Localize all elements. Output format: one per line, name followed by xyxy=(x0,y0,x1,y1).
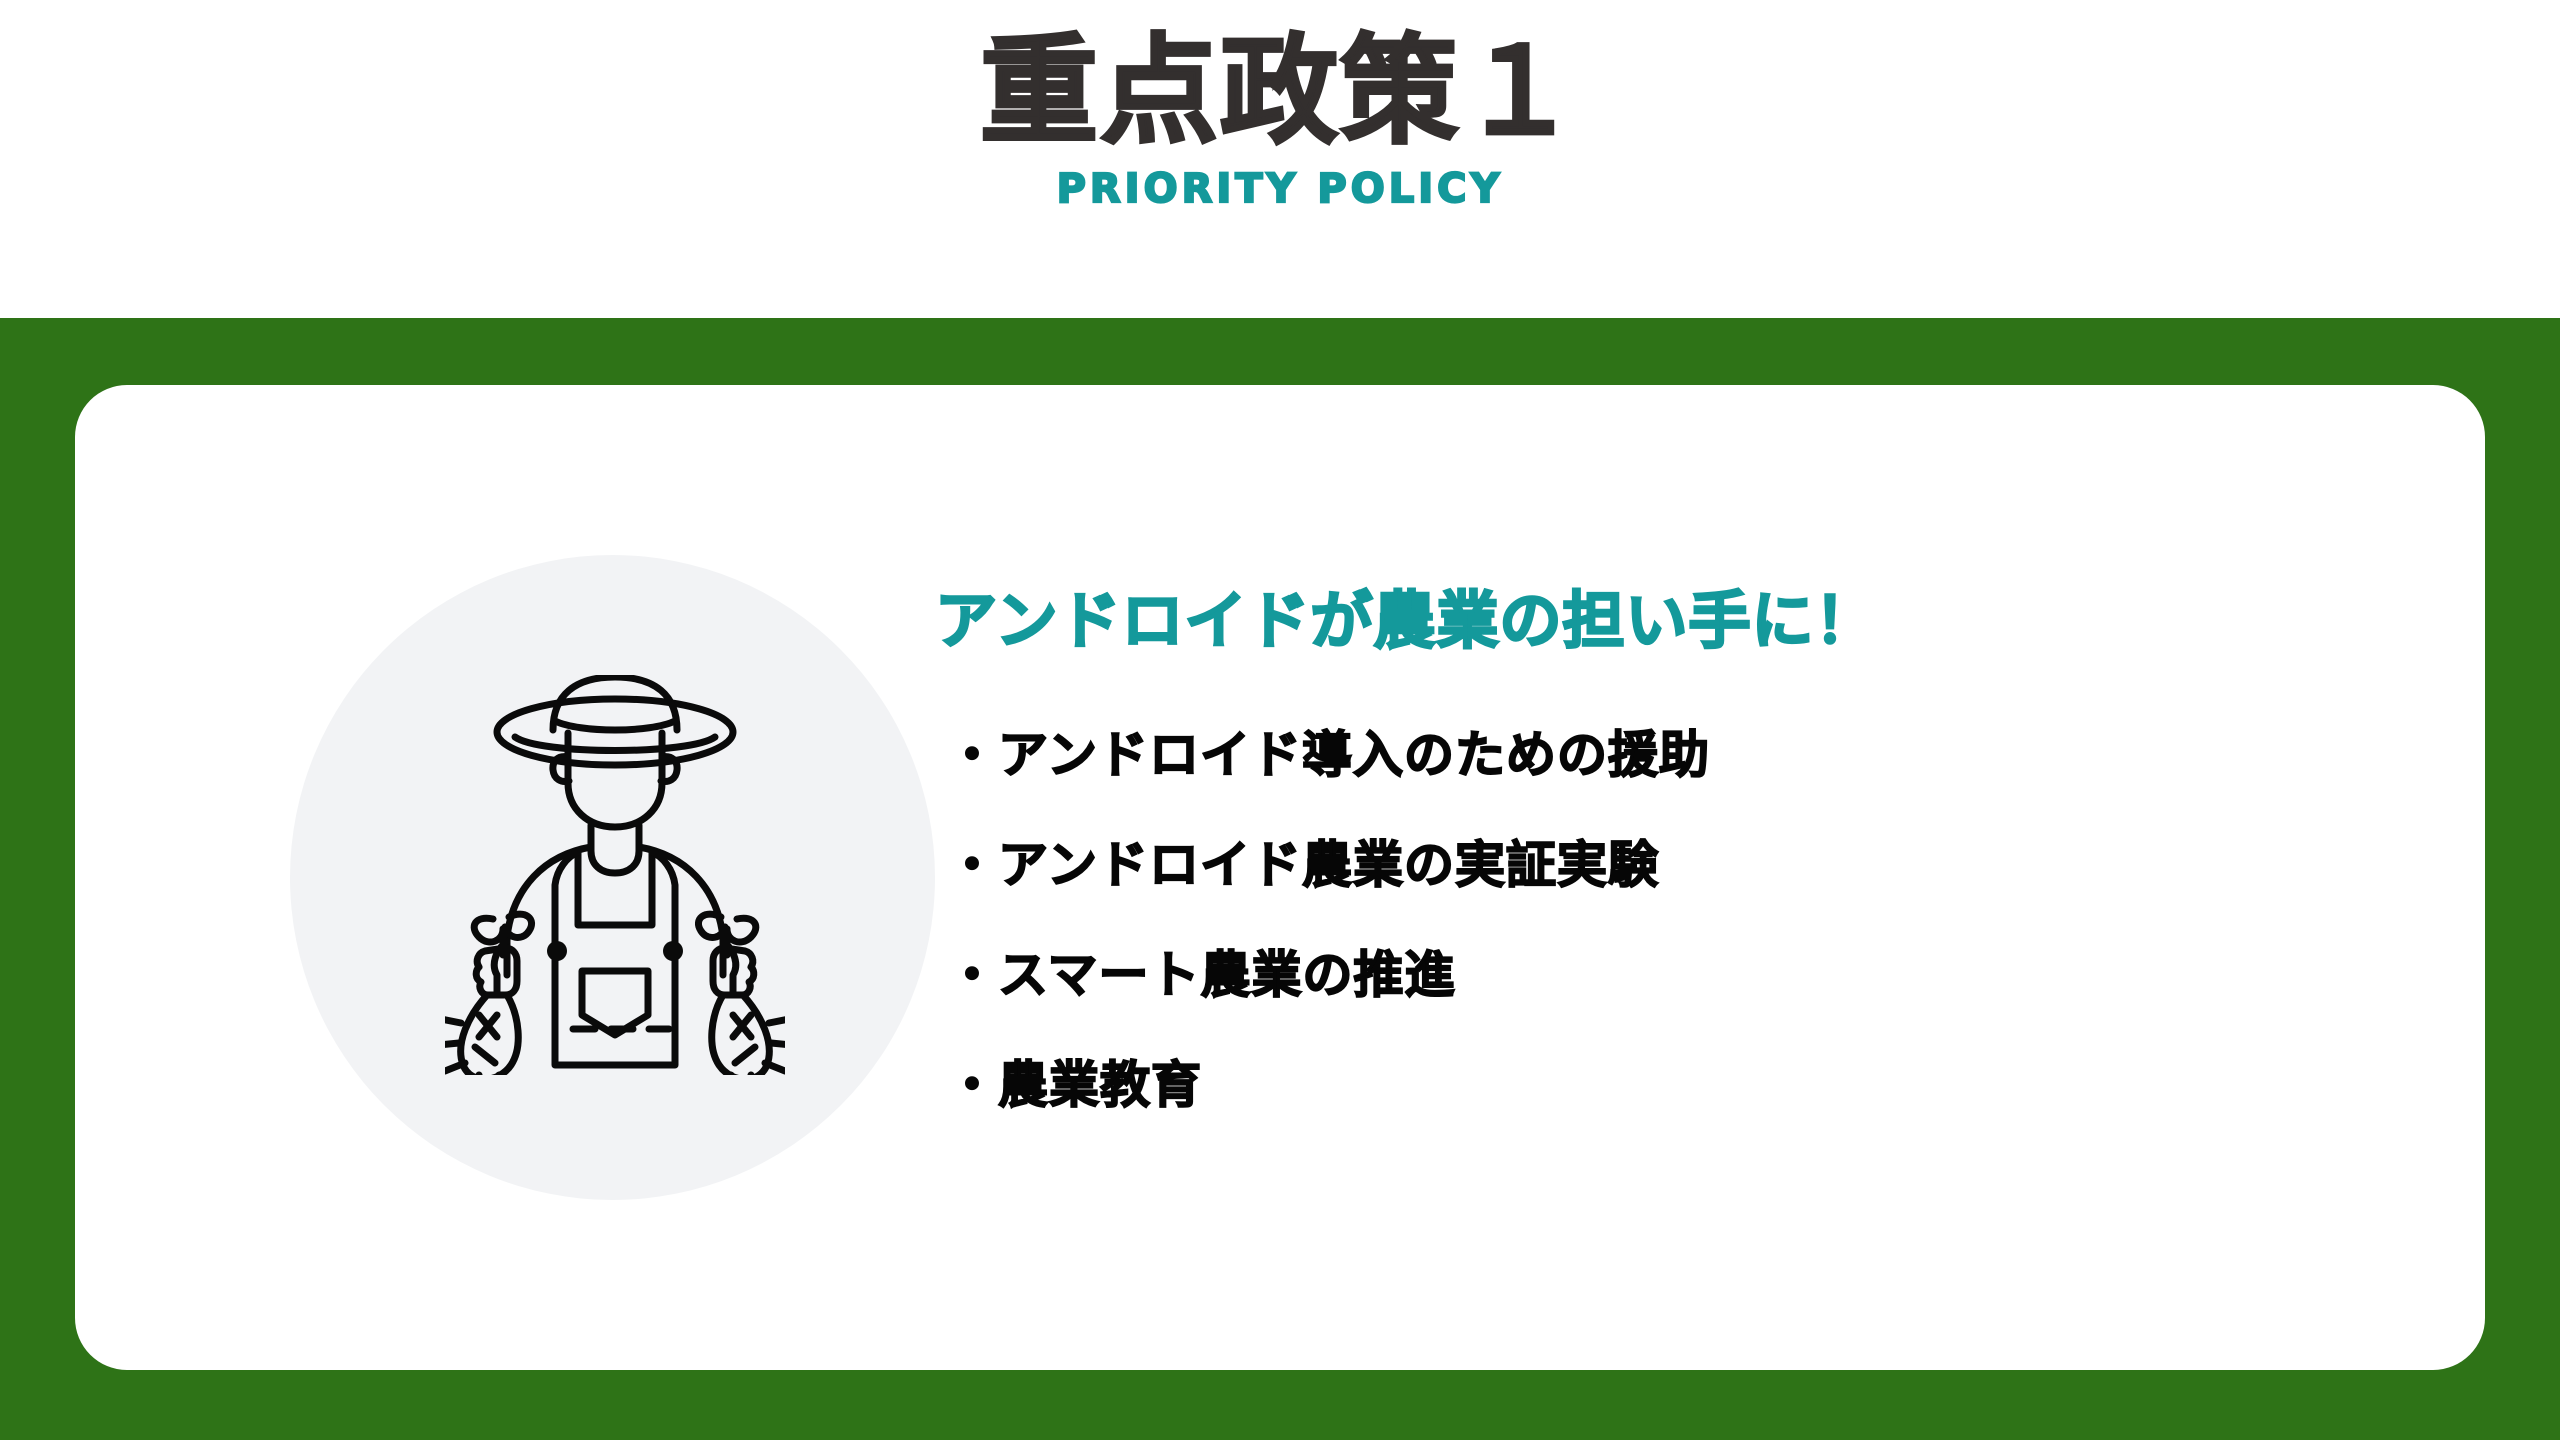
bullet-label: アンドロイド導入のための援助 xyxy=(998,715,1710,787)
bullet-label: アンドロイド農業の実証実験 xyxy=(998,825,1659,897)
list-item: ・農業教育 xyxy=(947,1045,1710,1117)
bullet-label: 農業教育 xyxy=(998,1045,1202,1117)
bullet-marker: ・ xyxy=(947,1045,998,1117)
list-item: ・アンドロイド農業の実証実験 xyxy=(947,825,1710,897)
page-subtitle: PRIORITY POLICY xyxy=(1057,166,1504,212)
farmer-icon xyxy=(445,675,785,1075)
page-header: 重点政策１ PRIORITY POLICY xyxy=(0,0,2560,318)
page-title: 重点政策１ xyxy=(980,0,1580,150)
content-card: アンドロイドが農業の担い手に！ ・アンドロイド導入のための援助 ・アンドロイド農… xyxy=(75,385,2485,1370)
list-item: ・アンドロイド導入のための援助 xyxy=(947,715,1710,787)
bullet-marker: ・ xyxy=(947,715,998,787)
list-item: ・スマート農業の推進 xyxy=(947,935,1710,1007)
bullet-label: スマート農業の推進 xyxy=(998,935,1456,1007)
bullet-marker: ・ xyxy=(947,935,998,1007)
policy-bullet-list: ・アンドロイド導入のための援助 ・アンドロイド農業の実証実験 ・スマート農業の推… xyxy=(947,715,1710,1155)
icon-panel xyxy=(75,385,935,1370)
lead-heading: アンドロイドが農業の担い手に！ xyxy=(935,570,1878,660)
text-panel: アンドロイドが農業の担い手に！ ・アンドロイド導入のための援助 ・アンドロイド農… xyxy=(935,385,2485,1370)
bullet-marker: ・ xyxy=(947,825,998,897)
